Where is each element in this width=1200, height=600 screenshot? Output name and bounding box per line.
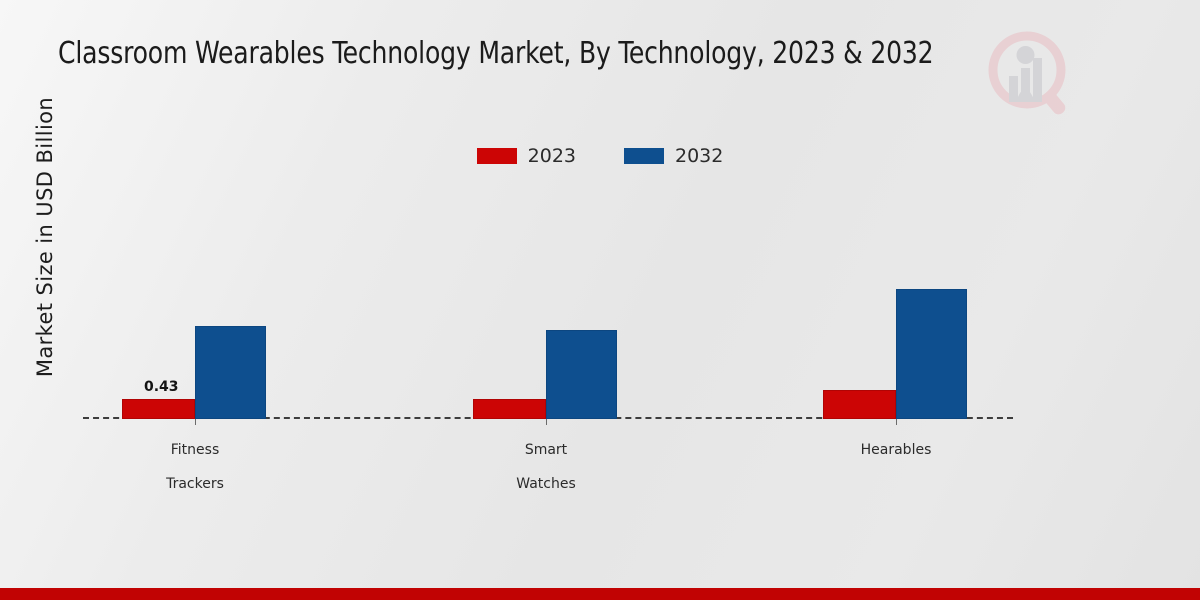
- bar-group-smart-watches: Smart Watches: [473, 180, 656, 419]
- bar-group-fitness-trackers: 0.43 Fitness Trackers: [122, 180, 305, 419]
- chart-legend: 2023 2032: [0, 145, 1200, 167]
- y-axis-title: Market Size in USD Billion: [33, 87, 57, 387]
- category-label-line1: Hearables: [836, 442, 956, 459]
- category-label-hearables: Hearables: [836, 425, 956, 493]
- legend-item-2032[interactable]: 2032: [624, 145, 723, 167]
- bar-2023-hearables[interactable]: [823, 390, 896, 419]
- category-label-line1: Fitness: [135, 442, 255, 459]
- category-label-line2: Watches: [486, 476, 606, 493]
- bar-group-hearables: Hearables: [823, 180, 1006, 419]
- footer-accent-bar: [0, 588, 1200, 600]
- bar-2032-hearables[interactable]: [896, 289, 967, 419]
- bar-2032-smart-watches[interactable]: [546, 330, 617, 419]
- bar-value-label-0: 0.43: [144, 379, 179, 395]
- bar-2023-smart-watches[interactable]: [473, 399, 546, 419]
- legend-label-2023: 2023: [528, 145, 576, 167]
- legend-swatch-2023: [477, 148, 517, 164]
- category-label-line2: Trackers: [135, 476, 255, 493]
- chart-canvas: Classroom Wearables Technology Market, B…: [0, 0, 1200, 600]
- bar-2032-fitness-trackers[interactable]: [195, 326, 266, 419]
- category-label-fitness-trackers: Fitness Trackers: [135, 425, 255, 510]
- legend-label-2032: 2032: [675, 145, 723, 167]
- chart-title: Classroom Wearables Technology Market, B…: [58, 36, 1081, 71]
- legend-swatch-2032: [624, 148, 664, 164]
- bar-2023-fitness-trackers[interactable]: [122, 399, 195, 419]
- plot-area: 0.43 Fitness Trackers Smart Watches: [83, 180, 1013, 419]
- category-label-line1: Smart: [486, 442, 606, 459]
- category-label-smart-watches: Smart Watches: [486, 425, 606, 510]
- legend-item-2023[interactable]: 2023: [477, 145, 576, 167]
